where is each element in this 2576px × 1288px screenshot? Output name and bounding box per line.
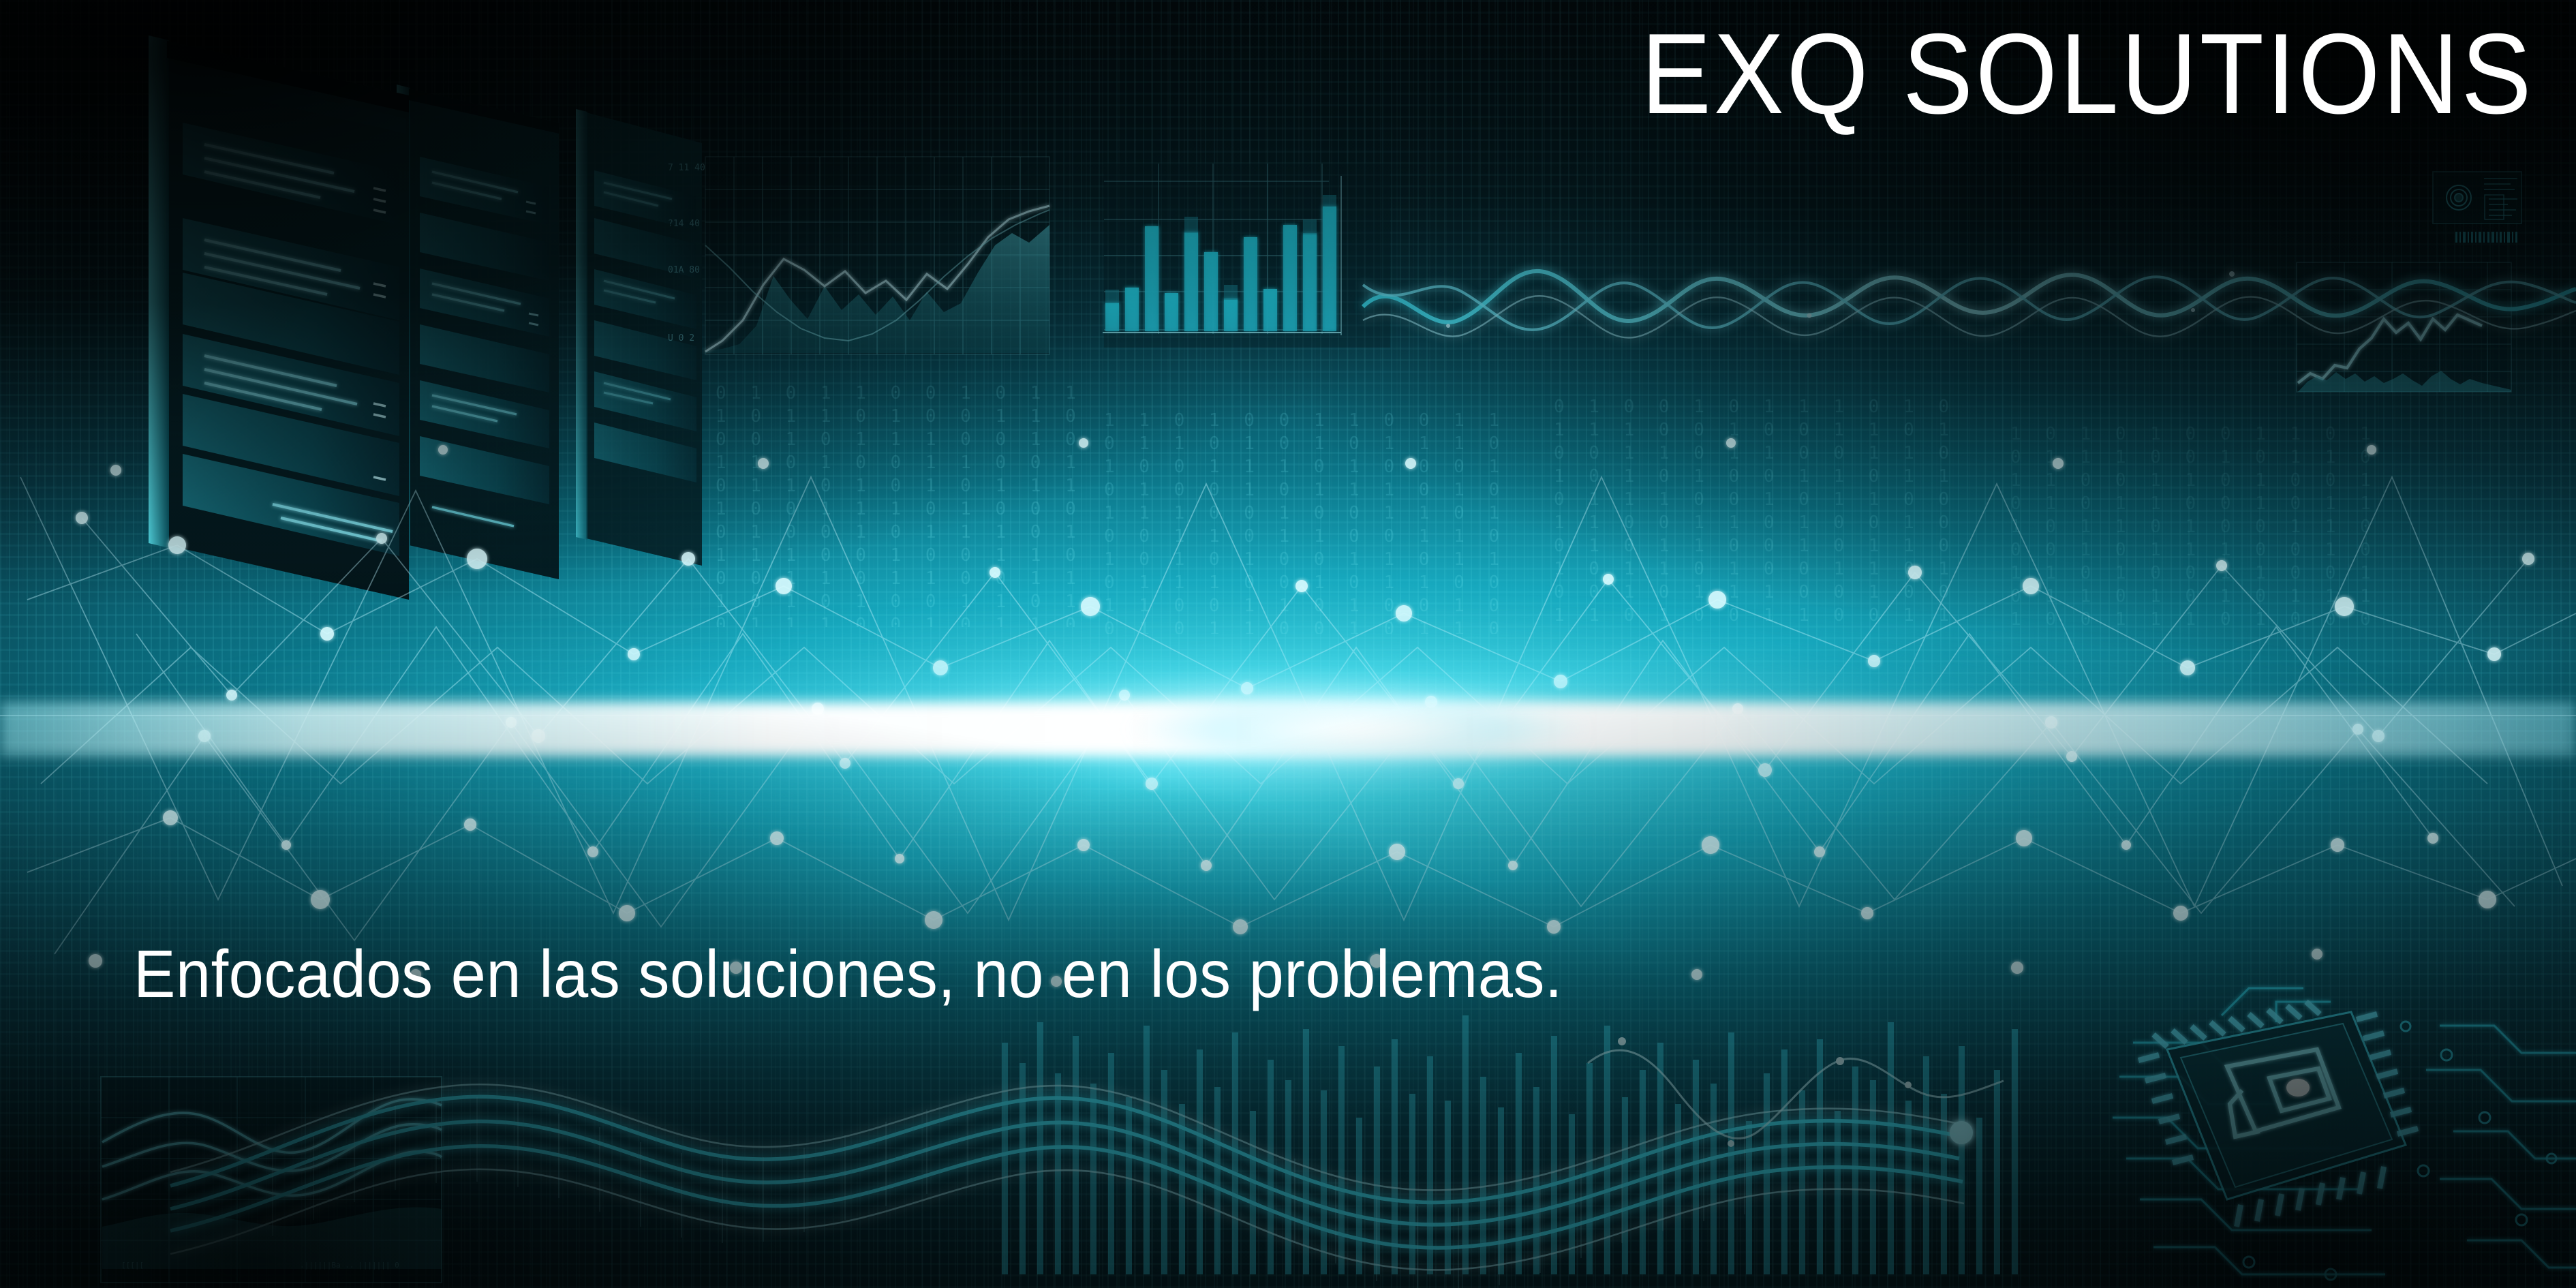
bottom-spectrum-bars	[1002, 1015, 2018, 1274]
barcode-strip	[2455, 232, 2517, 243]
center-light-hotspot	[1063, 675, 1676, 784]
spectrum-trend-line	[1588, 1037, 2004, 1147]
svg-text:.||||||Ba .. ||||||| 0: .||||||Ba .. ||||||| 0	[300, 1261, 399, 1270]
waveform-endpoint-node	[1950, 1121, 1973, 1144]
server-rack-2	[397, 85, 559, 579]
mesh-wave-panel: [[[|[ .||||||Ba .. ||||||| 0	[101, 1077, 442, 1283]
page-title: EXQ SOLUTIONS	[1641, 16, 2534, 131]
line-area-chart-panel	[2297, 262, 2511, 392]
hero-banner: 0 1 0 1 1 0 0 1 0 1 1 0 1 0 1 1 0 1 0 0 …	[0, 0, 2576, 1288]
tagline: Enfocados en las soluciones, no en los p…	[134, 938, 1563, 1011]
svg-text:7 11 40: 7 11 40	[668, 163, 705, 173]
svg-text:[[[|[: [[[|[	[121, 1261, 144, 1270]
cpu-chip	[2138, 1002, 2418, 1227]
server-rack-3	[576, 109, 702, 566]
lower-mesh-waveform	[170, 1084, 1973, 1288]
bar-chart-panel	[1103, 164, 1390, 348]
svg-text:?14 40: ?14 40	[668, 219, 700, 229]
upper-waveform-band	[1363, 271, 2576, 338]
area-line-chart-panel: 7 11 40 ?14 40 01A 80 U 0 2	[668, 157, 1049, 354]
radar-dial-panel	[2433, 172, 2521, 243]
svg-text:01A 80: 01A 80	[668, 265, 700, 275]
svg-text:U 0 2: U 0 2	[668, 333, 694, 343]
server-rack-1	[149, 35, 409, 600]
radar-dial-icon	[2447, 185, 2471, 210]
